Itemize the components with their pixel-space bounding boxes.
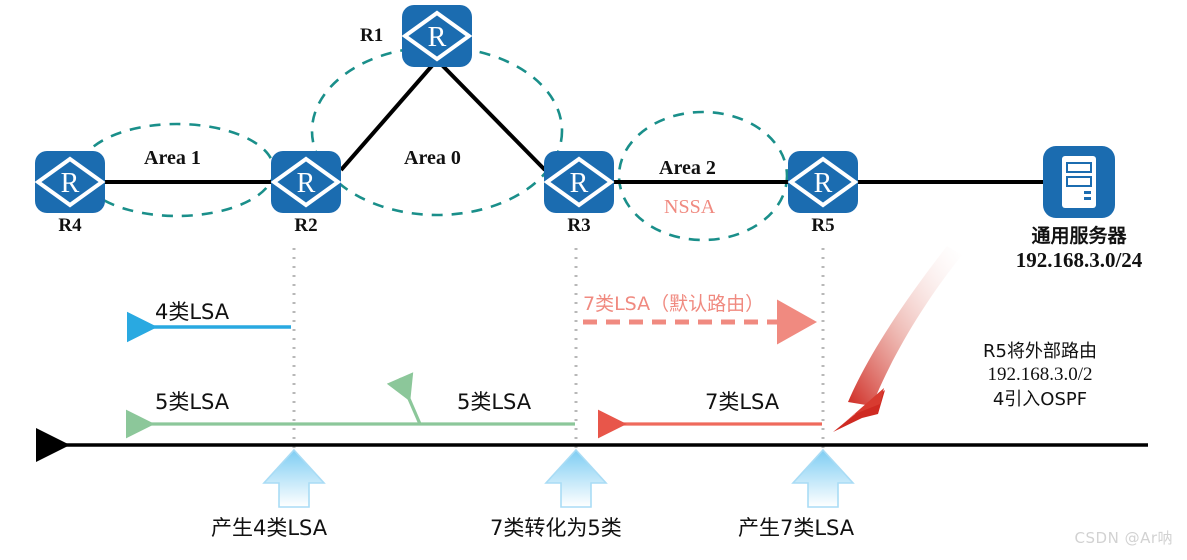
marker-label-r5: 产生7类LSA [738, 512, 854, 542]
device-label-r3: R3 [534, 215, 624, 237]
router-icon-r1[interactable]: R [402, 5, 472, 67]
svg-text:R: R [297, 168, 316, 199]
flow-label-type4: 4类LSA [155, 296, 229, 326]
area0-ellipse [312, 47, 562, 215]
marker-label-r3: 7类转化为5类 [490, 512, 622, 542]
annotation-line-2: 192.168.3.0/2 [930, 363, 1150, 388]
router-icon-r3[interactable]: R [544, 151, 614, 213]
flow-label-type7: 7类LSA [705, 386, 779, 416]
device-label-r5: R5 [778, 215, 868, 237]
marker-arrow-r2 [264, 450, 324, 507]
svg-text:R: R [61, 168, 80, 199]
svg-text:R: R [570, 168, 589, 199]
flow-type5-branch-arrow [400, 378, 420, 424]
marker-arrow-r5 [793, 450, 853, 507]
area-label-area1: Area 1 [144, 147, 201, 170]
server-icon[interactable] [1043, 146, 1115, 218]
diagram-graphics: R R R R R [0, 0, 1187, 560]
svg-text:R: R [814, 168, 833, 199]
router-icon-r4[interactable]: R [35, 151, 105, 213]
device-label-r4: R4 [25, 215, 115, 237]
flow-label-type5-left: 5类LSA [155, 386, 229, 416]
flow-label-type5-right: 5类LSA [457, 386, 531, 416]
annotation-line-1: R5将外部路由 [930, 340, 1150, 363]
device-label-r1: R1 [360, 25, 383, 47]
router-icon-r2[interactable]: R [271, 151, 341, 213]
marker-label-r2: 产生4类LSA [211, 512, 327, 542]
marker-arrow-r3 [546, 450, 606, 507]
annotation-line-3: 4引入OSPF [930, 388, 1150, 411]
device-label-r2: R2 [261, 215, 351, 237]
svg-text:R: R [428, 22, 447, 53]
router-icon-r5[interactable]: R [788, 151, 858, 213]
area-label-area2: Area 2 [659, 157, 716, 180]
server-subnet-label: 192.168.3.0/24 [979, 248, 1179, 273]
area-label-area0: Area 0 [404, 147, 461, 170]
flow-label-type7-default: 7类LSA（默认路由） [583, 289, 764, 316]
area1-ellipse [80, 124, 274, 216]
watermark: CSDN @Ar呐 [1075, 527, 1173, 548]
diagram-canvas: R R R R R [0, 0, 1187, 560]
server-label: 通用服务器 [979, 221, 1179, 248]
external-route-annotation: R5将外部路由 192.168.3.0/2 4引入OSPF [930, 340, 1150, 411]
area-label-nssa: NSSA [664, 196, 715, 219]
